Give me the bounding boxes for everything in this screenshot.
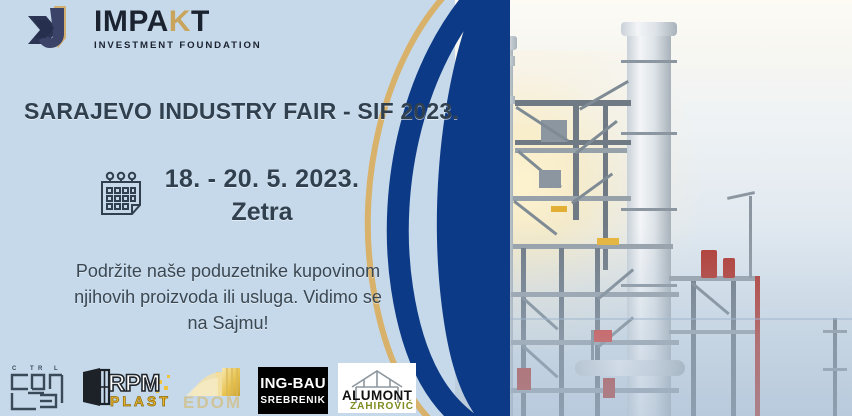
ctrl-letter-c: C: [12, 366, 17, 372]
ctrl-letter-r: R: [38, 366, 43, 372]
event-venue: Zetra: [165, 198, 359, 227]
ctrl-space-mark: C T R L: [6, 362, 68, 416]
ing-bau-line-2: SREBRENIK: [260, 395, 325, 406]
ctrl-letter-t: T: [30, 366, 34, 372]
body-line-2: njihovih proizvoda ili usluga. Vidimo se: [18, 284, 438, 310]
sponsor-logo-edom[interactable]: EDOM: [182, 362, 248, 416]
alumont-line-2: ZAHIROVIĆ: [350, 401, 414, 412]
event-dates: 18. - 20. 5. 2023.: [165, 165, 359, 194]
brand-name: IMPAKT: [94, 7, 262, 37]
sponsor-logo-ctrl-space[interactable]: C T R L: [6, 362, 68, 416]
tower-band: [621, 132, 677, 135]
ing-bau-line-1: ING-BAU: [260, 375, 326, 392]
sponsor-logo-alumont[interactable]: ALUMONT ZAHIROVIĆ: [338, 363, 416, 413]
brand-tagline: INVESTMENT FOUNDATION: [94, 41, 262, 51]
brand-name-accent: K: [169, 7, 191, 37]
brand-name-part2: T: [191, 7, 210, 37]
sponsor-strip: C T R L: [0, 360, 460, 416]
ctrl-letter-l: L: [54, 366, 58, 372]
event-date-venue: 18. - 20. 5. 2023. Zetra: [165, 165, 359, 227]
sponsor-logo-ing-bau[interactable]: ING-BAU SREBRENIK: [258, 367, 328, 414]
navy-edge-shape: [437, 0, 510, 416]
body-line-3: na Sajmu!: [18, 310, 438, 336]
impakt-chevron-logo: [24, 4, 88, 54]
edom-wordmark: EDOM: [183, 393, 242, 413]
calendar-icon: [99, 171, 143, 217]
body-line-1: Podržite naše poduzetnike kupovinom: [18, 258, 438, 284]
tower-cap: [621, 22, 677, 36]
promo-poster: IMPAKT INVESTMENT FOUNDATION SARAJEVO IN…: [0, 0, 852, 416]
tower-band: [621, 208, 677, 211]
rpm-subword: PLAST: [110, 393, 171, 409]
tower-band: [621, 60, 677, 63]
brand-name-part1: IMPA: [94, 7, 169, 37]
event-details: 18. - 20. 5. 2023. Zetra: [24, 165, 434, 227]
impakt-wordmark: IMPAKT INVESTMENT FOUNDATION: [94, 7, 262, 51]
impakt-logo[interactable]: IMPAKT INVESTMENT FOUNDATION: [24, 4, 262, 54]
body-copy: Podržite naše poduzetnike kupovinom njih…: [18, 258, 438, 336]
sponsor-logo-rpm-plast[interactable]: RPM PLAST: [80, 366, 172, 414]
navy-edge-strip: [430, 0, 510, 416]
page-title: SARAJEVO INDUSTRY FAIR - SIF 2023.: [24, 98, 459, 125]
